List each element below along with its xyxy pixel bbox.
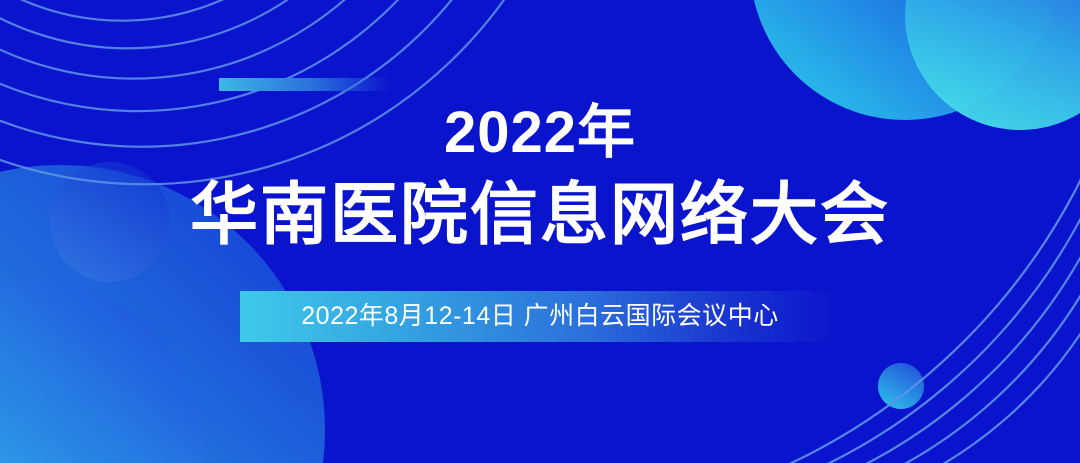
accent-bar xyxy=(219,78,391,91)
conference-banner: 2022年 华南医院信息网络大会 2022年8月12-14日 广州白云国际会议中… xyxy=(0,0,1080,463)
banner-title-main: 华南医院信息网络大会 xyxy=(0,180,1080,251)
banner-content: 2022年 华南医院信息网络大会 2022年8月12-14日 广州白云国际会议中… xyxy=(0,0,1080,463)
banner-subtitle: 2022年8月12-14日 广州白云国际会议中心 xyxy=(240,291,840,342)
banner-title-year: 2022年 xyxy=(0,104,1080,162)
